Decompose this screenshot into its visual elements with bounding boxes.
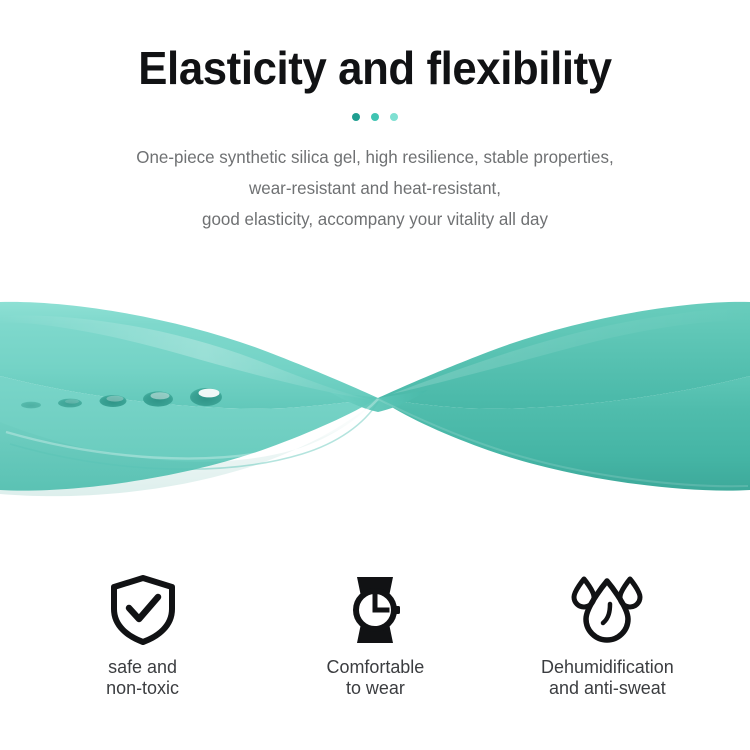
wristwatch-icon xyxy=(340,572,410,648)
feature-3-line-1: Dehumidification xyxy=(541,656,674,677)
feature-caption-safe: safe and non-toxic xyxy=(107,656,180,698)
band-hole-3 xyxy=(100,395,127,407)
feature-caption-comfortable: Comfortable to wear xyxy=(326,656,424,698)
band-hole-4 xyxy=(143,391,173,406)
feature-safe-non-toxic: safe and non-toxic xyxy=(27,572,259,698)
feature-2-line-1: Comfortable xyxy=(326,656,424,677)
dot-3-icon xyxy=(390,113,398,121)
dot-1-icon xyxy=(352,113,360,121)
band-hole-5 xyxy=(190,388,222,406)
dot-separator xyxy=(0,112,750,122)
subtitle-line-3: good elasticity, accompany your vitality… xyxy=(11,204,739,235)
subtitle-line-2: wear-resistant and heat-resistant, xyxy=(11,173,739,204)
feature-3-line-2: and anti-sweat xyxy=(541,677,674,698)
feature-caption-dehumidification: Dehumidification and anti-sweat xyxy=(541,656,674,698)
feature-2-line-2: to wear xyxy=(326,677,424,698)
band-hole-2 xyxy=(58,399,82,408)
band-hole-1 xyxy=(21,402,41,409)
header-section: Elasticity and flexibility One-piece syn… xyxy=(0,0,750,235)
subtitle-block: One-piece synthetic silica gel, high res… xyxy=(11,142,739,235)
features-section: safe and non-toxic Comfortable to wear xyxy=(0,572,750,698)
twisted-band-illustration xyxy=(0,272,750,522)
feature-1-line-2: non-toxic xyxy=(107,677,180,698)
product-image xyxy=(0,272,750,522)
shield-check-icon xyxy=(108,572,178,648)
dot-2-icon xyxy=(371,113,379,121)
page-title: Elasticity and flexibility xyxy=(19,44,732,92)
water-drops-icon xyxy=(568,572,646,648)
subtitle-line-1: One-piece synthetic silica gel, high res… xyxy=(11,142,739,173)
feature-comfortable-to-wear: Comfortable to wear xyxy=(259,572,491,698)
product-feature-page: Elasticity and flexibility One-piece syn… xyxy=(0,0,750,750)
feature-1-line-1: safe and xyxy=(107,656,180,677)
feature-dehumidification: Dehumidification and anti-sweat xyxy=(491,572,723,698)
